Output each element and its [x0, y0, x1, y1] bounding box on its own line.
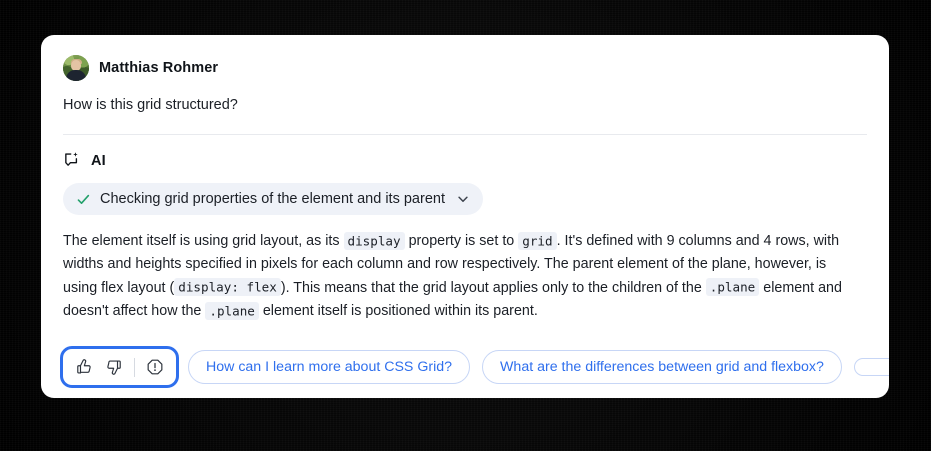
status-text: Checking grid properties of the element … [100, 191, 445, 207]
thumbs-down-icon [105, 358, 123, 376]
response-actions: How can I learn more about CSS Grid? Wha… [41, 336, 889, 398]
ai-sparkle-bubble-icon [63, 151, 82, 170]
status-disclosure-pill[interactable]: Checking grid properties of the element … [63, 183, 483, 215]
thumbs-up-button[interactable] [69, 353, 99, 381]
ai-message: AI Checking grid properties of the eleme… [41, 135, 889, 324]
inline-code: display [344, 232, 405, 250]
inline-code: display: flex [174, 278, 281, 296]
report-alert-icon [146, 358, 164, 376]
check-icon [76, 192, 91, 207]
inline-code: .plane [205, 302, 259, 320]
feedback-separator [134, 358, 135, 377]
suggestion-chip-2[interactable]: What are the differences between grid an… [482, 350, 842, 384]
suggestion-chip-1[interactable]: How can I learn more about CSS Grid? [188, 350, 470, 384]
suggestion-chip-3[interactable] [854, 358, 889, 376]
inline-code: grid [518, 232, 556, 250]
inline-code: .plane [706, 278, 760, 296]
report-button[interactable] [140, 353, 170, 381]
suggestion-chips: How can I learn more about CSS Grid? Wha… [188, 350, 889, 384]
conversation-card: Matthias Rohmer How is this grid structu… [41, 35, 889, 398]
feedback-button-group[interactable] [63, 349, 176, 385]
user-message-text: How is this grid structured? [63, 95, 867, 116]
user-message-header: Matthias Rohmer [63, 55, 867, 81]
thumbs-down-button[interactable] [99, 353, 129, 381]
avatar-torso [66, 70, 86, 81]
user-name: Matthias Rohmer [99, 60, 218, 76]
ai-label: AI [91, 153, 106, 169]
thumbs-up-icon [75, 358, 93, 376]
ai-message-header: AI [63, 151, 867, 170]
chevron-down-icon[interactable] [454, 192, 470, 206]
ai-answer-text: The element itself is using grid layout,… [63, 230, 863, 324]
user-message: Matthias Rohmer How is this grid structu… [41, 35, 889, 116]
avatar [63, 55, 89, 81]
